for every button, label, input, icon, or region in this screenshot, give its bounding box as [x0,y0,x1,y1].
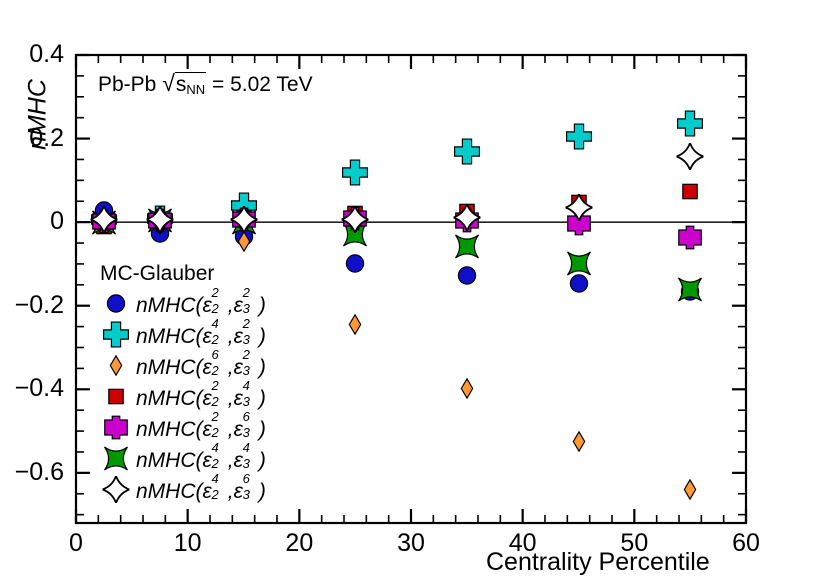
legend-entry: nMHC(ε42,ε43) [96,445,266,476]
legend-marker-star4o-icon [96,478,136,506]
data-point-marker [453,204,480,236]
nn-subscript: NN [186,82,205,97]
energy-value: = 5.02 TeV [212,73,313,96]
legend-marker-star6-icon [96,416,136,444]
x-tick-label: 20 [269,529,329,558]
legend-marker-square-icon [96,385,136,413]
legend-entry: nMHC(ε22,ε63) [96,414,266,445]
legend-entry: nMHC(ε62,ε23) [96,352,266,383]
legend-entry-label: nMHC(ε22,ε43) [136,387,266,411]
data-point-marker [677,110,704,142]
x-tick-label: 50 [604,529,664,558]
data-point-marker [677,143,704,175]
data-point-marker [680,479,701,505]
legend-entry: nMHC(ε42,ε23) [96,321,266,352]
data-point-marker [90,206,117,238]
legend-entry-label: nMHC(ε22,ε63) [136,418,266,442]
legend: MC-Glauber nMHC(ε22,ε23)nMHC(ε42,ε23)nMH… [96,262,266,507]
data-point-marker [230,206,257,238]
y-tick-label: −0.6 [4,458,64,487]
system-label: Pb-Pb [98,73,156,96]
data-point-marker [678,277,703,307]
data-point-marker [345,314,366,340]
y-tick-label: −0.2 [4,291,64,320]
data-point-marker [565,123,592,155]
data-point-marker [678,225,703,255]
y-tick-label: −0.4 [4,374,64,403]
legend-entry-label: nMHC(ε62,ε23) [136,356,266,380]
data-point-marker [456,378,477,404]
y-tick-label: 0 [4,207,64,236]
data-point-marker [568,431,589,457]
data-point-marker [146,206,173,238]
x-tick-label: 30 [381,529,441,558]
legend-marker-star4f-icon [96,447,136,475]
legend-entry-label: nMHC(ε22,ε23) [136,294,266,318]
x-tick-label: 10 [158,529,218,558]
data-point-marker [345,253,366,279]
legend-entry-label: nMHC(ε42,ε23) [136,325,266,349]
data-point-marker [454,234,479,264]
sqrt-argument: sNN [175,72,206,96]
legend-entry-label: nMHC(ε42,ε43) [136,449,266,473]
y-tick-label: 0.4 [4,40,64,69]
legend-title: MC-Glauber [96,262,266,286]
legend-entry: nMHC(ε42,ε63) [96,476,266,507]
legend-entry-label: nMHC(ε42,ε63) [136,480,266,504]
y-tick-label: 0.2 [4,124,64,153]
data-point-marker [565,194,592,226]
y-axis-label: nMHC [24,55,53,175]
data-point-marker [456,265,477,291]
sqrt-symbol: √ [162,70,175,96]
legend-entry-list: nMHC(ε22,ε23)nMHC(ε42,ε23)nMHC(ε62,ε23)n… [96,290,266,507]
legend-entry: nMHC(ε22,ε43) [96,383,266,414]
data-point-marker [342,206,369,238]
legend-marker-cross-icon [96,323,136,351]
data-point-marker [680,181,700,206]
x-tick-label: 40 [493,529,553,558]
x-tick-label: 60 [716,529,776,558]
scatter-plot-figure: nMHC Centrality Percentile Pb-Pb √sNN = … [0,0,814,586]
collision-system-annotation: Pb-Pb √sNN = 5.02 TeV [98,70,313,97]
data-point-marker [453,138,480,170]
legend-marker-circle-icon [96,292,136,320]
data-point-marker [342,159,369,191]
data-point-marker [566,251,591,281]
legend-entry: nMHC(ε22,ε23) [96,290,266,321]
legend-marker-diamond-icon [96,354,136,382]
x-tick-label: 0 [46,529,106,558]
